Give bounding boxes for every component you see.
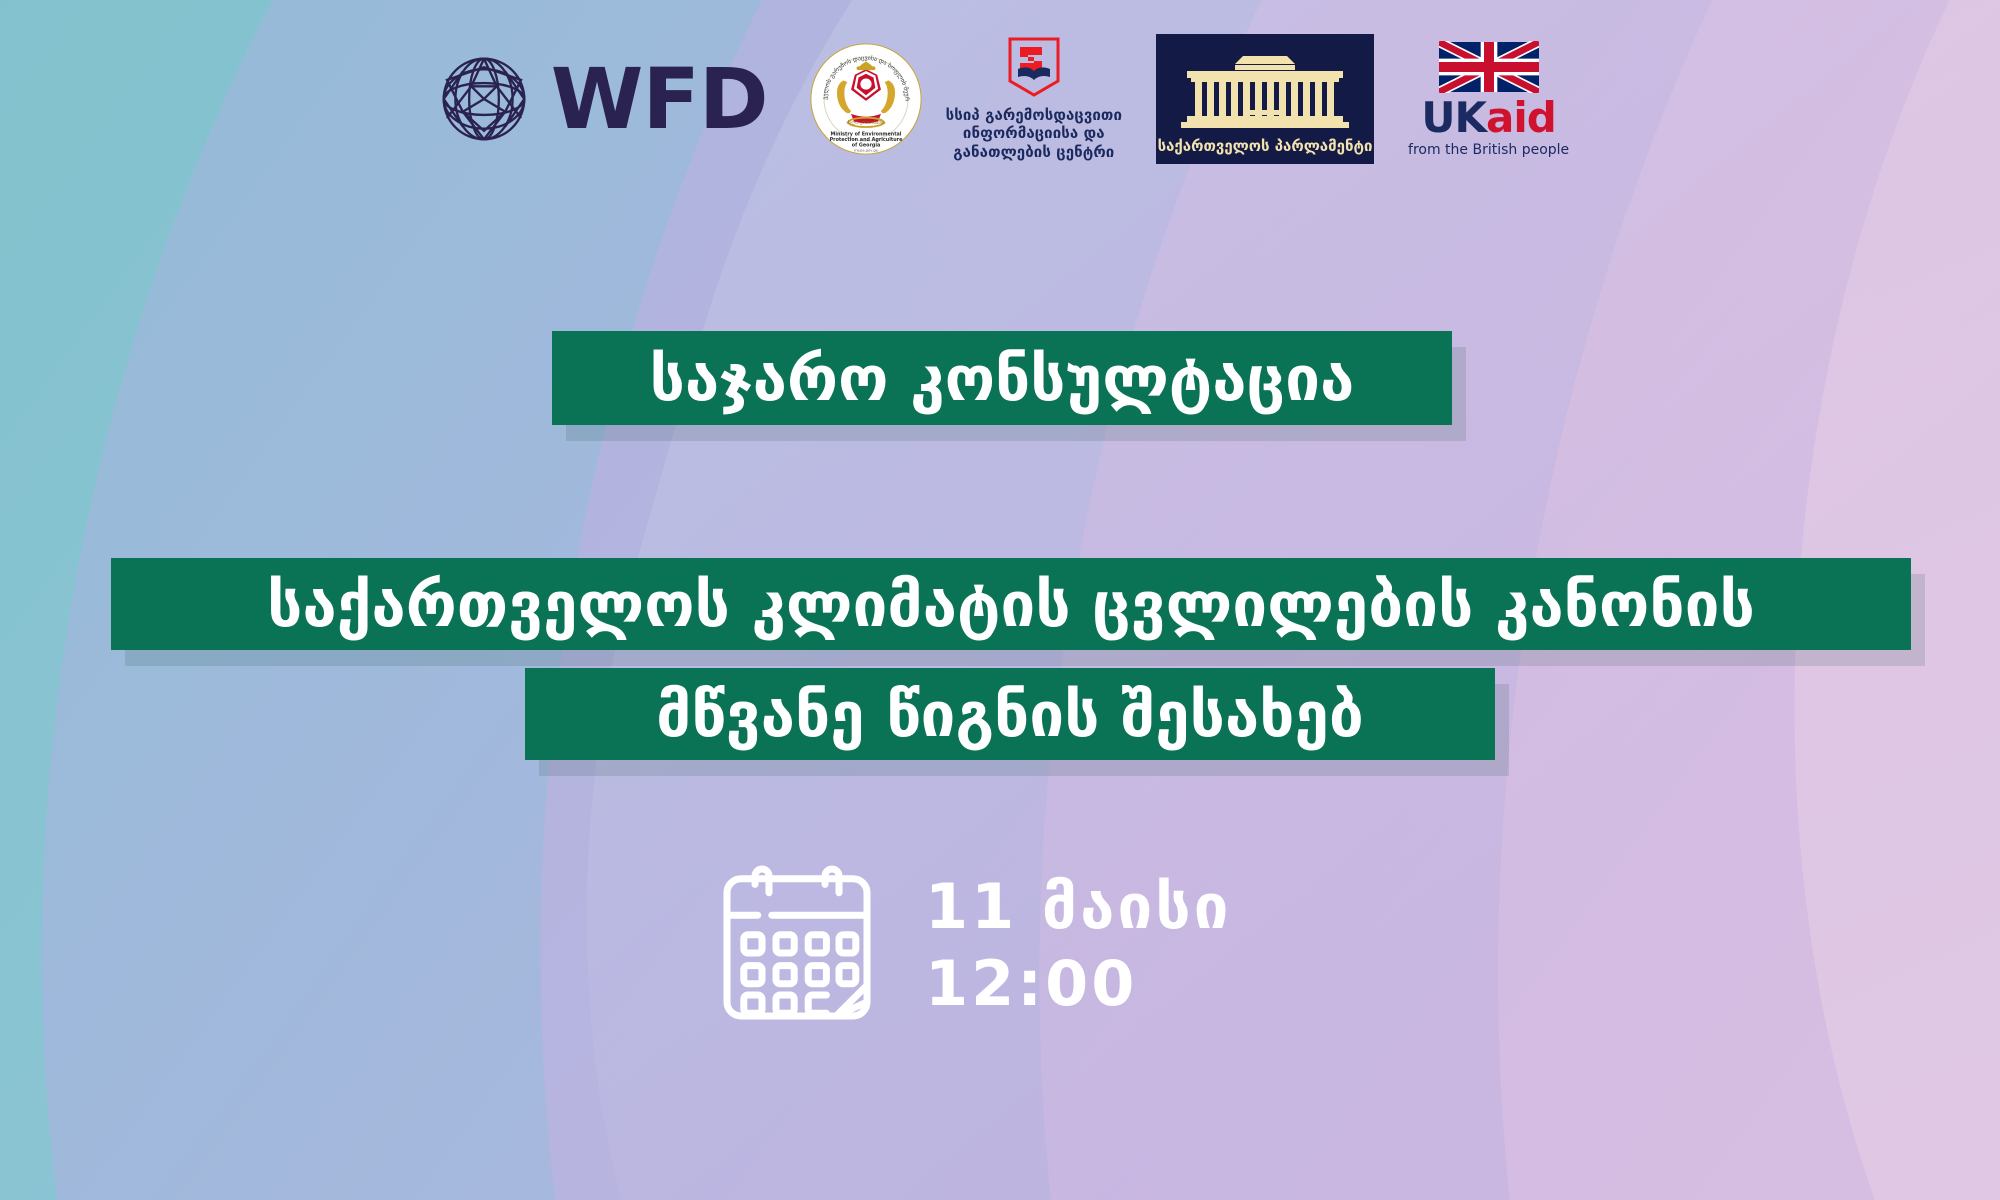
logo-ukaid: UKaid from the British people [1408,41,1569,158]
event-time: 12:00 [925,947,1137,1020]
logo-wfd: WFD [431,46,768,152]
parliament-label: საქართველოს პარლამენტი [1158,137,1373,155]
svg-text:mepa.gov.ge: mepa.gov.ge [854,148,879,152]
calendar-icon [713,862,881,1030]
ukaid-tagline: from the British people [1408,142,1569,158]
event-date: 11 მაისი [925,870,1232,943]
subtitle-banner-line-2: მწვანე წიგნის შესახებ [525,668,1495,760]
env-center-line-3: განათლების ცენტრი [953,143,1114,161]
union-jack-flag-icon [1439,41,1539,93]
ukaid-wordmark: UKaid [1421,97,1555,139]
ukaid-aid-text: aid [1486,93,1556,142]
parliament-building-icon [1177,54,1353,132]
subtitle-banner-line-1: საქართველოს კლიმატის ცვლილების კანონის [111,558,1911,650]
poster-canvas: WFD ძალა ერთობა [0,0,2000,1200]
env-center-line-2: ინფორმაციისა და [963,124,1105,142]
ukaid-uk-text: UK [1421,93,1486,142]
env-education-center-icon [1008,37,1060,99]
globe-wireframe-icon [431,46,537,152]
event-datetime: 11 მაისი 12:00 [713,862,1232,1030]
datetime-text: 11 მაისი 12:00 [925,869,1232,1023]
env-center-line-1: სსიპ გარემოსდაცვითი [946,106,1122,124]
env-center-label: სსიპ გარემოსდაცვითი ინფორმაციისა და განა… [946,106,1122,161]
wfd-wordmark: WFD [551,57,768,141]
georgia-coat-of-arms-icon: ძალა ერთობაშია Ministry of Environmental… [810,43,922,155]
logo-parliament: საქართველოს პარლამენტი [1156,34,1374,164]
logo-ministry: ძალა ერთობაშია Ministry of Environmental… [810,43,946,155]
logo-env-center: სსიპ გარემოსდაცვითი ინფორმაციისა და განა… [946,37,1122,161]
logo-row: WFD ძალა ერთობა [0,24,2000,174]
headline-banner: საჯარო კონსულტაცია [552,331,1452,425]
